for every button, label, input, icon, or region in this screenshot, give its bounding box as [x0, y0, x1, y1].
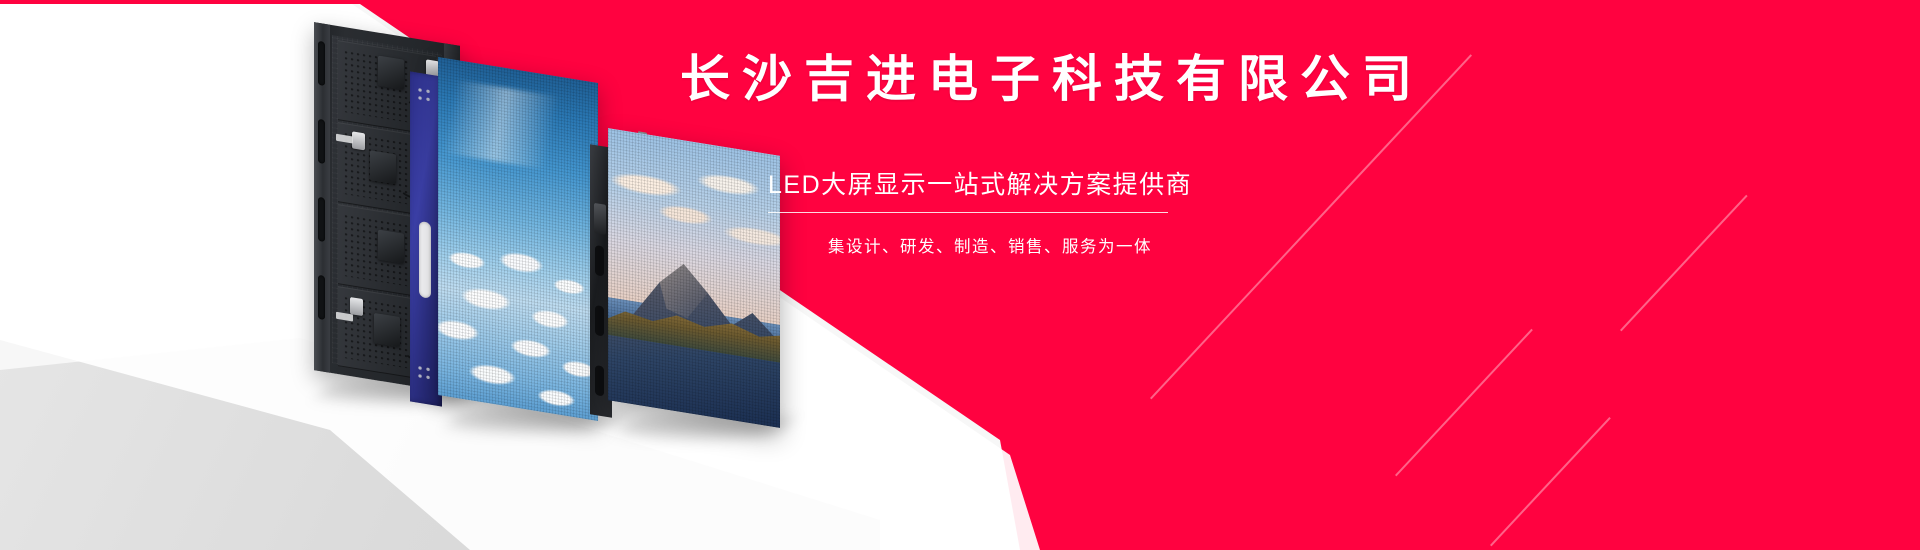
cabinet-handle	[419, 221, 431, 299]
led-screen-sky	[438, 57, 598, 421]
banner-text-block: 长沙吉进电子科技有限公司 LED大屏显示一站式解决方案提供商 集设计、研发、制造…	[680, 52, 1380, 257]
cabinet-rail-left	[314, 22, 330, 373]
company-title: 长沙吉进电子科技有限公司	[680, 52, 1380, 107]
banner-subtitle: LED大屏显示一站式解决方案提供商	[768, 165, 1168, 201]
hero-banner: 长沙吉进电子科技有限公司 LED大屏显示一站式解决方案提供商 集设计、研发、制造…	[0, 0, 1920, 550]
panel-port	[594, 203, 606, 235]
cloud-layer	[438, 233, 598, 421]
subtitle-divider	[768, 212, 1168, 213]
subtitle-group: LED大屏显示一站式解决方案提供商 集设计、研发、制造、销售、服务为一体	[768, 165, 1168, 257]
screw-icon	[417, 87, 433, 106]
cloud-wisp	[438, 77, 598, 177]
banner-tagline: 集设计、研发、制造、销售、服务为一体	[790, 233, 1190, 257]
screw-icon	[417, 365, 433, 384]
